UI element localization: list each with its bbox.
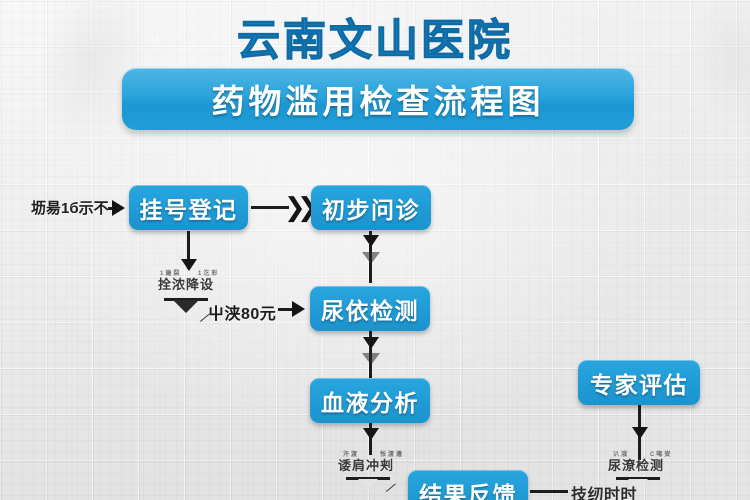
node-initial-consult-label: 初步问诊 xyxy=(322,191,420,225)
node-register[interactable]: 挂号登记 xyxy=(129,185,248,230)
annotation-under-expert: 尿潦检测 xyxy=(608,455,664,474)
marker-triangle-register xyxy=(164,298,208,314)
marker-triangle-expert xyxy=(616,477,660,493)
node-blood-analysis[interactable]: 血液分析 xyxy=(310,378,430,423)
banner-title-text: 药物滥用检查流程图 xyxy=(212,75,545,123)
node-result-feedback-label: 结果反馈 xyxy=(419,476,517,500)
annotation-entry: 坜昜1б示不 xyxy=(31,197,109,218)
annotation-fee: 屮浃80元 xyxy=(208,300,276,324)
annotation-above-result: 诿肩冲刾 xyxy=(338,455,394,474)
arrow-blood-down-solid xyxy=(363,428,379,440)
arrow-entry-to-register xyxy=(112,200,125,216)
arrow-expert-down-solid xyxy=(632,427,648,439)
arrow-initial-down-open xyxy=(362,252,380,264)
node-urine-test[interactable]: 尿依检测 xyxy=(310,286,430,331)
arrow-fee-to-urine xyxy=(292,301,305,317)
arrow-register-down xyxy=(181,259,197,271)
arrow-urine-down-open xyxy=(362,353,380,365)
node-register-label: 挂号登记 xyxy=(140,191,238,225)
node-expert-review[interactable]: 专家评估 xyxy=(578,360,700,405)
flowchart-poster: 云南文山医院 药物滥用检查流程图 坜昜1б示不 挂号登记 ❯ ❯ 初步问诊 1遍… xyxy=(0,0,750,500)
node-expert-review-label: 专家评估 xyxy=(590,366,688,400)
banner-title-bar: 药物滥用检查流程图 xyxy=(122,68,634,130)
node-urine-test-label: 尿依检测 xyxy=(321,292,419,326)
arrow-urine-down-solid xyxy=(363,337,379,349)
node-result-feedback[interactable]: 结果反馈 xyxy=(408,470,528,500)
hospital-title: 云南文山医院 xyxy=(0,6,750,68)
connector-result-right xyxy=(530,490,568,493)
annotation-under-register: 拴浓降设 xyxy=(158,274,214,293)
node-blood-analysis-label: 血液分析 xyxy=(321,384,419,418)
marker-triangle-result xyxy=(346,477,390,493)
arrow-initial-down-solid xyxy=(363,235,379,247)
node-initial-consult[interactable]: 初步问诊 xyxy=(311,185,431,230)
